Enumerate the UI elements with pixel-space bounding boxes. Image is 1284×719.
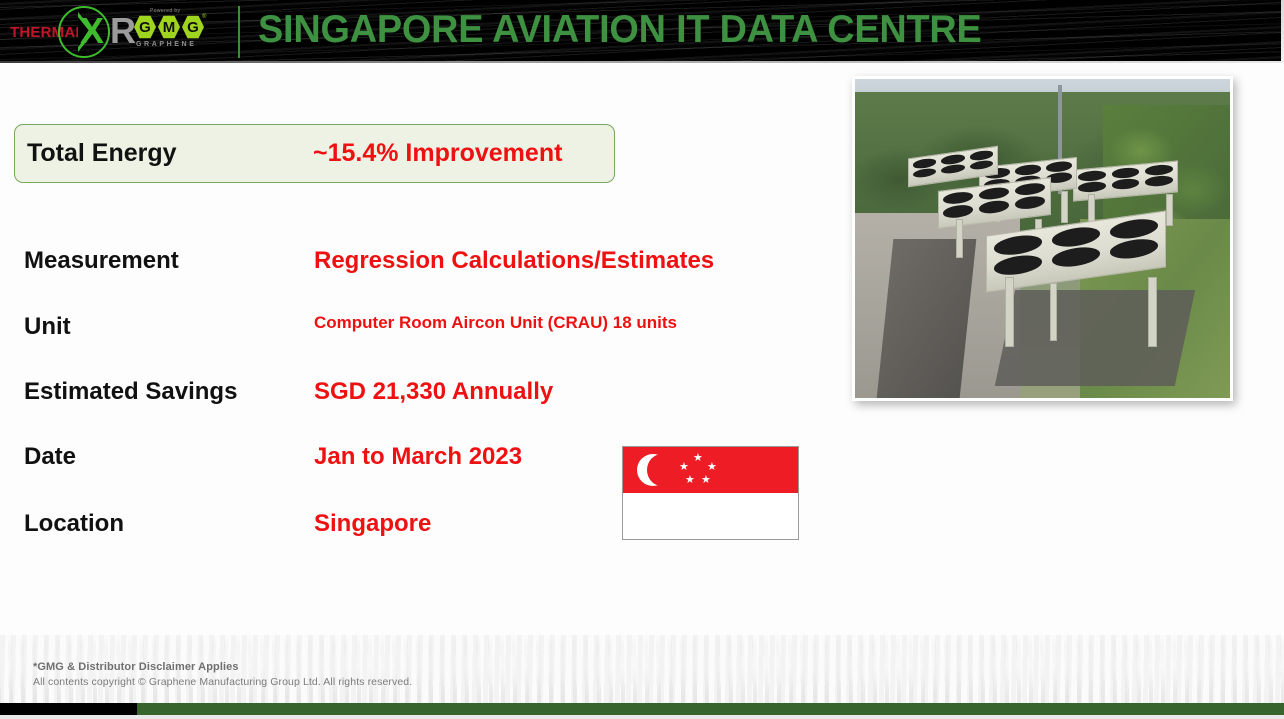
bottom-bar-black (0, 703, 137, 715)
spec-label: Location (24, 510, 124, 538)
footer-disclaimer: *GMG & Distributor Disclaimer Applies (33, 661, 239, 673)
highlight-label: Total Energy (27, 139, 177, 168)
footer-copyright: All contents copyright © Graphene Manufa… (33, 676, 412, 688)
fan-icon (1015, 182, 1045, 197)
fan-icon (1111, 178, 1139, 190)
fan-icon (1145, 175, 1173, 187)
aircon-units-photo (852, 76, 1233, 401)
header-bottom-edge (0, 61, 1284, 63)
gmg-hex-letter-3: G (187, 20, 199, 35)
fan-icon (912, 167, 936, 179)
photo-pad (995, 290, 1195, 386)
fan-icon (943, 191, 973, 206)
fan-icon (943, 204, 973, 219)
unit-leg (1061, 191, 1068, 223)
flag-star-2: ★ (679, 462, 689, 473)
logo-letter-x: X (80, 12, 104, 50)
logo-powered-by-text: Powered by (150, 8, 180, 14)
fan-icon (994, 253, 1042, 277)
highlight-value: ~15.4% Improvement (313, 139, 562, 168)
flag-star-3: ★ (707, 462, 717, 473)
spec-label: Measurement (24, 247, 179, 275)
spec-value: Regression Calculations/Estimates (314, 247, 714, 275)
slide-header: THERMAL X R Powered by G M G ® GRAPHENE … (0, 0, 1284, 63)
gmg-hex-1: G (134, 15, 156, 39)
fan-icon (979, 199, 1009, 214)
spec-value: Computer Room Aircon Unit (CRAU) 18 unit… (314, 313, 677, 333)
spec-value: Jan to March 2023 (314, 443, 522, 471)
photo-trench (877, 239, 976, 399)
fan-icon (1052, 245, 1100, 269)
logo-letter-r: R (110, 12, 136, 50)
photo-content (855, 79, 1230, 398)
fan-icon (1110, 216, 1158, 240)
fan-icon (1145, 164, 1173, 176)
gmg-hex-2: M (158, 15, 180, 39)
spec-label: Date (24, 443, 76, 471)
page-title: SINGAPORE AVIATION IT DATA CENTRE (258, 8, 982, 52)
gmg-hex-letter-1: G (139, 20, 151, 35)
unit-leg (1005, 277, 1014, 347)
bottom-edge-line (0, 715, 1284, 719)
fan-icon (1046, 161, 1072, 173)
flag-star-1: ★ (693, 453, 703, 464)
fan-icon (1015, 195, 1045, 210)
spec-label: Unit (24, 313, 71, 341)
spec-label: Estimated Savings (24, 378, 237, 406)
fan-grid (1078, 164, 1173, 193)
fan-icon (1110, 236, 1158, 260)
spec-value: SGD 21,330 Annually (314, 378, 553, 406)
gmg-graphene-text: GRAPHENE (136, 41, 196, 48)
bottom-bar-green (137, 703, 1284, 715)
flag-star-4: ★ (685, 475, 695, 486)
spec-value: Singapore (314, 510, 431, 538)
gmg-hex-logo-icon: G M G (134, 15, 204, 39)
gmg-hex-3: G (182, 15, 204, 39)
slide: THERMAL X R Powered by G M G ® GRAPHENE … (0, 0, 1284, 719)
unit-leg (1148, 277, 1157, 347)
fan-icon (979, 186, 1009, 201)
singapore-flag: ★ ★ ★ ★ ★ (622, 446, 799, 540)
fan-icon (1111, 167, 1139, 179)
gmg-registered-mark: ® (202, 14, 206, 20)
flag-star-5: ★ (701, 475, 711, 486)
fan-icon (1078, 170, 1106, 182)
gmg-hex-letter-2: M (163, 20, 176, 35)
header-divider (238, 6, 240, 58)
total-energy-highlight-box: Total Energy ~15.4% Improvement (14, 124, 615, 183)
fan-grid (943, 182, 1045, 219)
thermal-xr-gmg-logo: THERMAL X R Powered by G M G ® GRAPHENE (6, 2, 228, 60)
fan-icon (1052, 225, 1100, 249)
unit-leg (956, 219, 963, 257)
fan-icon (1078, 181, 1106, 193)
fan-icon (994, 233, 1042, 257)
fan-icon (941, 163, 965, 175)
fan-icon (1015, 164, 1041, 176)
unit-leg (1166, 194, 1173, 226)
unit-leg (1050, 283, 1057, 340)
fan-icon (969, 159, 993, 171)
flag-stars-group: ★ ★ ★ ★ ★ (673, 453, 725, 489)
